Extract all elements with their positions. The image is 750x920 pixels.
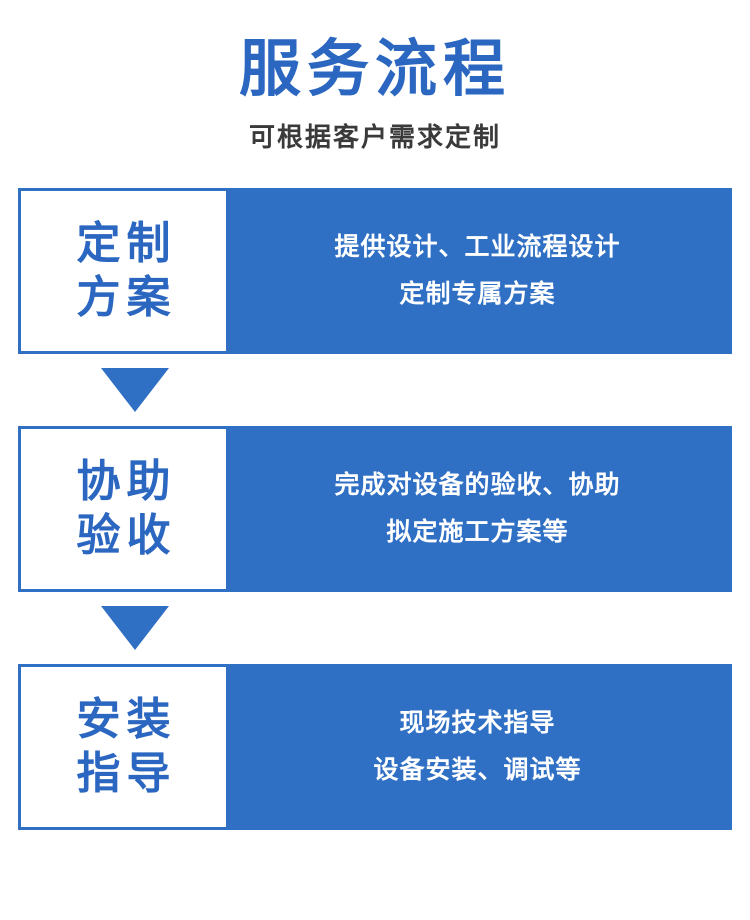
flow-step-1-desc-line2: 定制专属方案 <box>399 271 555 319</box>
flow-step-2-description: 完成对设备的验收、协助 拟定施工方案等 <box>226 429 729 589</box>
service-flow-poster: 服务流程 可根据客户需求定制 定制 方案 提供设计、工业流程设计 定制专属方案 … <box>0 0 750 920</box>
flow-step-3: 安装 指导 现场技术指导 设备安装、调试等 <box>18 664 732 830</box>
flow-step-1-desc-line1: 提供设计、工业流程设计 <box>334 224 620 272</box>
flow-step-2: 协助 验收 完成对设备的验收、协助 拟定施工方案等 <box>18 426 732 592</box>
flow-connector-1 <box>18 354 732 426</box>
flow-step-1: 定制 方案 提供设计、工业流程设计 定制专属方案 <box>18 188 732 354</box>
arrow-down-icon <box>101 368 169 412</box>
flow-step-3-label-line1: 安装 <box>71 693 177 748</box>
flow-step-1-label-line2: 方案 <box>71 271 177 326</box>
flow-connector-2 <box>18 592 732 664</box>
flow-step-3-description: 现场技术指导 设备安装、调试等 <box>226 667 729 827</box>
page-title: 服务流程 <box>0 34 750 105</box>
flow-step-1-label-line1: 定制 <box>71 217 177 272</box>
flow-step-3-desc-line1: 现场技术指导 <box>399 700 555 748</box>
flow-step-1-description: 提供设计、工业流程设计 定制专属方案 <box>226 191 729 351</box>
flow-step-2-desc-line2: 拟定施工方案等 <box>386 509 568 557</box>
flow-step-3-desc-line2: 设备安装、调试等 <box>373 747 581 795</box>
flow-step-3-label-line2: 指导 <box>71 747 177 802</box>
flow-step-2-label: 协助 验收 <box>21 429 226 589</box>
arrow-down-icon <box>101 606 169 650</box>
flow-step-3-label: 安装 指导 <box>21 667 226 827</box>
flow-step-1-label: 定制 方案 <box>21 191 226 351</box>
page-subtitle: 可根据客户需求定制 <box>0 117 750 154</box>
flow-step-2-desc-line1: 完成对设备的验收、协助 <box>334 462 620 510</box>
flow-steps: 定制 方案 提供设计、工业流程设计 定制专属方案 协助 验收 完成对设备的验收、… <box>0 188 750 830</box>
flow-step-2-label-line2: 验收 <box>71 509 177 564</box>
flow-step-2-label-line1: 协助 <box>71 455 177 510</box>
poster-header: 服务流程 可根据客户需求定制 <box>0 0 750 154</box>
